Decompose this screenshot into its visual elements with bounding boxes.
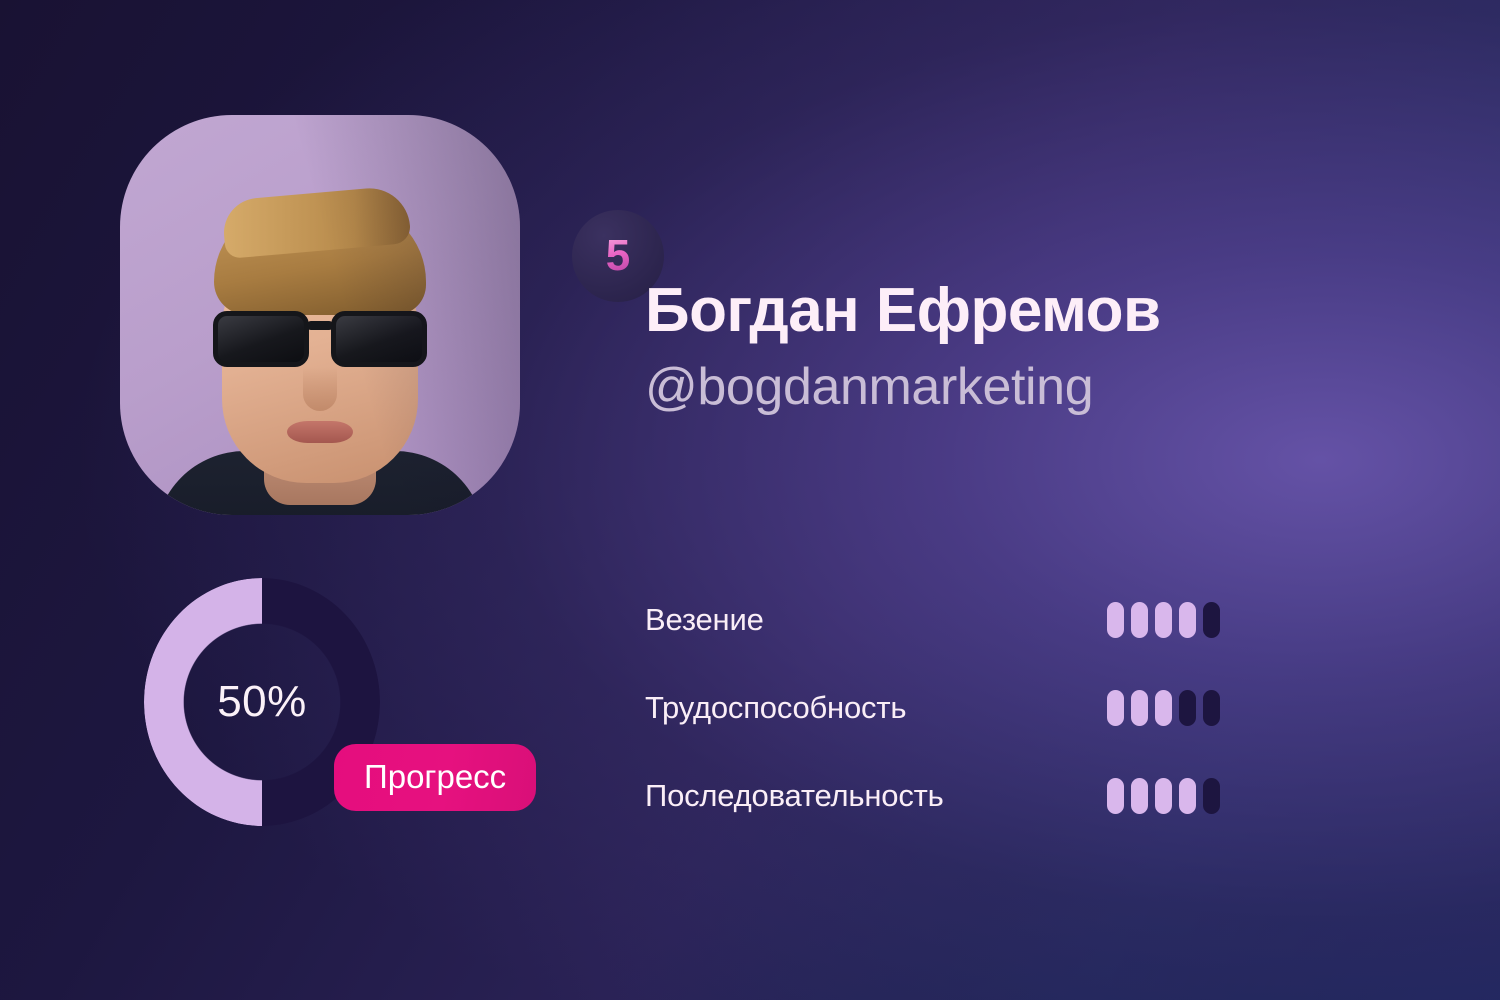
avatar[interactable]: 5 — [120, 115, 520, 515]
stat-pip-filled — [1131, 690, 1148, 726]
stats-list: ВезениеТрудоспособностьПоследовательност… — [645, 592, 1220, 824]
page-title: Богдан Ефремов — [645, 278, 1161, 344]
stat-pip-empty — [1203, 690, 1220, 726]
profile-card: 5 Богдан Ефремов @bogdanmarketing 50% Пр… — [0, 0, 1500, 1000]
stat-rating — [1107, 778, 1220, 814]
stat-pip-filled — [1107, 602, 1124, 638]
stat-pip-filled — [1131, 778, 1148, 814]
stat-rating — [1107, 690, 1220, 726]
stat-rating — [1107, 602, 1220, 638]
stat-pip-filled — [1155, 602, 1172, 638]
portrait-shading — [120, 115, 520, 515]
stat-row: Последовательность — [645, 768, 1220, 824]
stat-label: Трудоспособность — [645, 690, 906, 726]
stat-pip-filled — [1155, 690, 1172, 726]
stat-row: Трудоспособность — [645, 680, 1220, 736]
stat-pip-filled — [1131, 602, 1148, 638]
stat-pip-empty — [1203, 778, 1220, 814]
stat-pip-filled — [1155, 778, 1172, 814]
profile-handle: @bogdanmarketing — [645, 360, 1161, 415]
stat-pip-empty — [1203, 602, 1220, 638]
stat-label: Везение — [645, 602, 764, 638]
level-value: 5 — [606, 234, 630, 278]
stat-pip-filled — [1107, 778, 1124, 814]
identity-block: Богдан Ефремов @bogdanmarketing — [645, 278, 1161, 415]
stat-pip-empty — [1179, 690, 1196, 726]
progress-block: 50% Прогресс — [144, 578, 380, 826]
progress-value: 50% — [217, 677, 307, 727]
stat-pip-filled — [1179, 778, 1196, 814]
stat-label: Последовательность — [645, 778, 944, 814]
stat-pip-filled — [1107, 690, 1124, 726]
stat-pip-filled — [1179, 602, 1196, 638]
progress-badge[interactable]: Прогресс — [334, 744, 536, 811]
avatar-tile[interactable] — [120, 115, 520, 515]
stat-row: Везение — [645, 592, 1220, 648]
